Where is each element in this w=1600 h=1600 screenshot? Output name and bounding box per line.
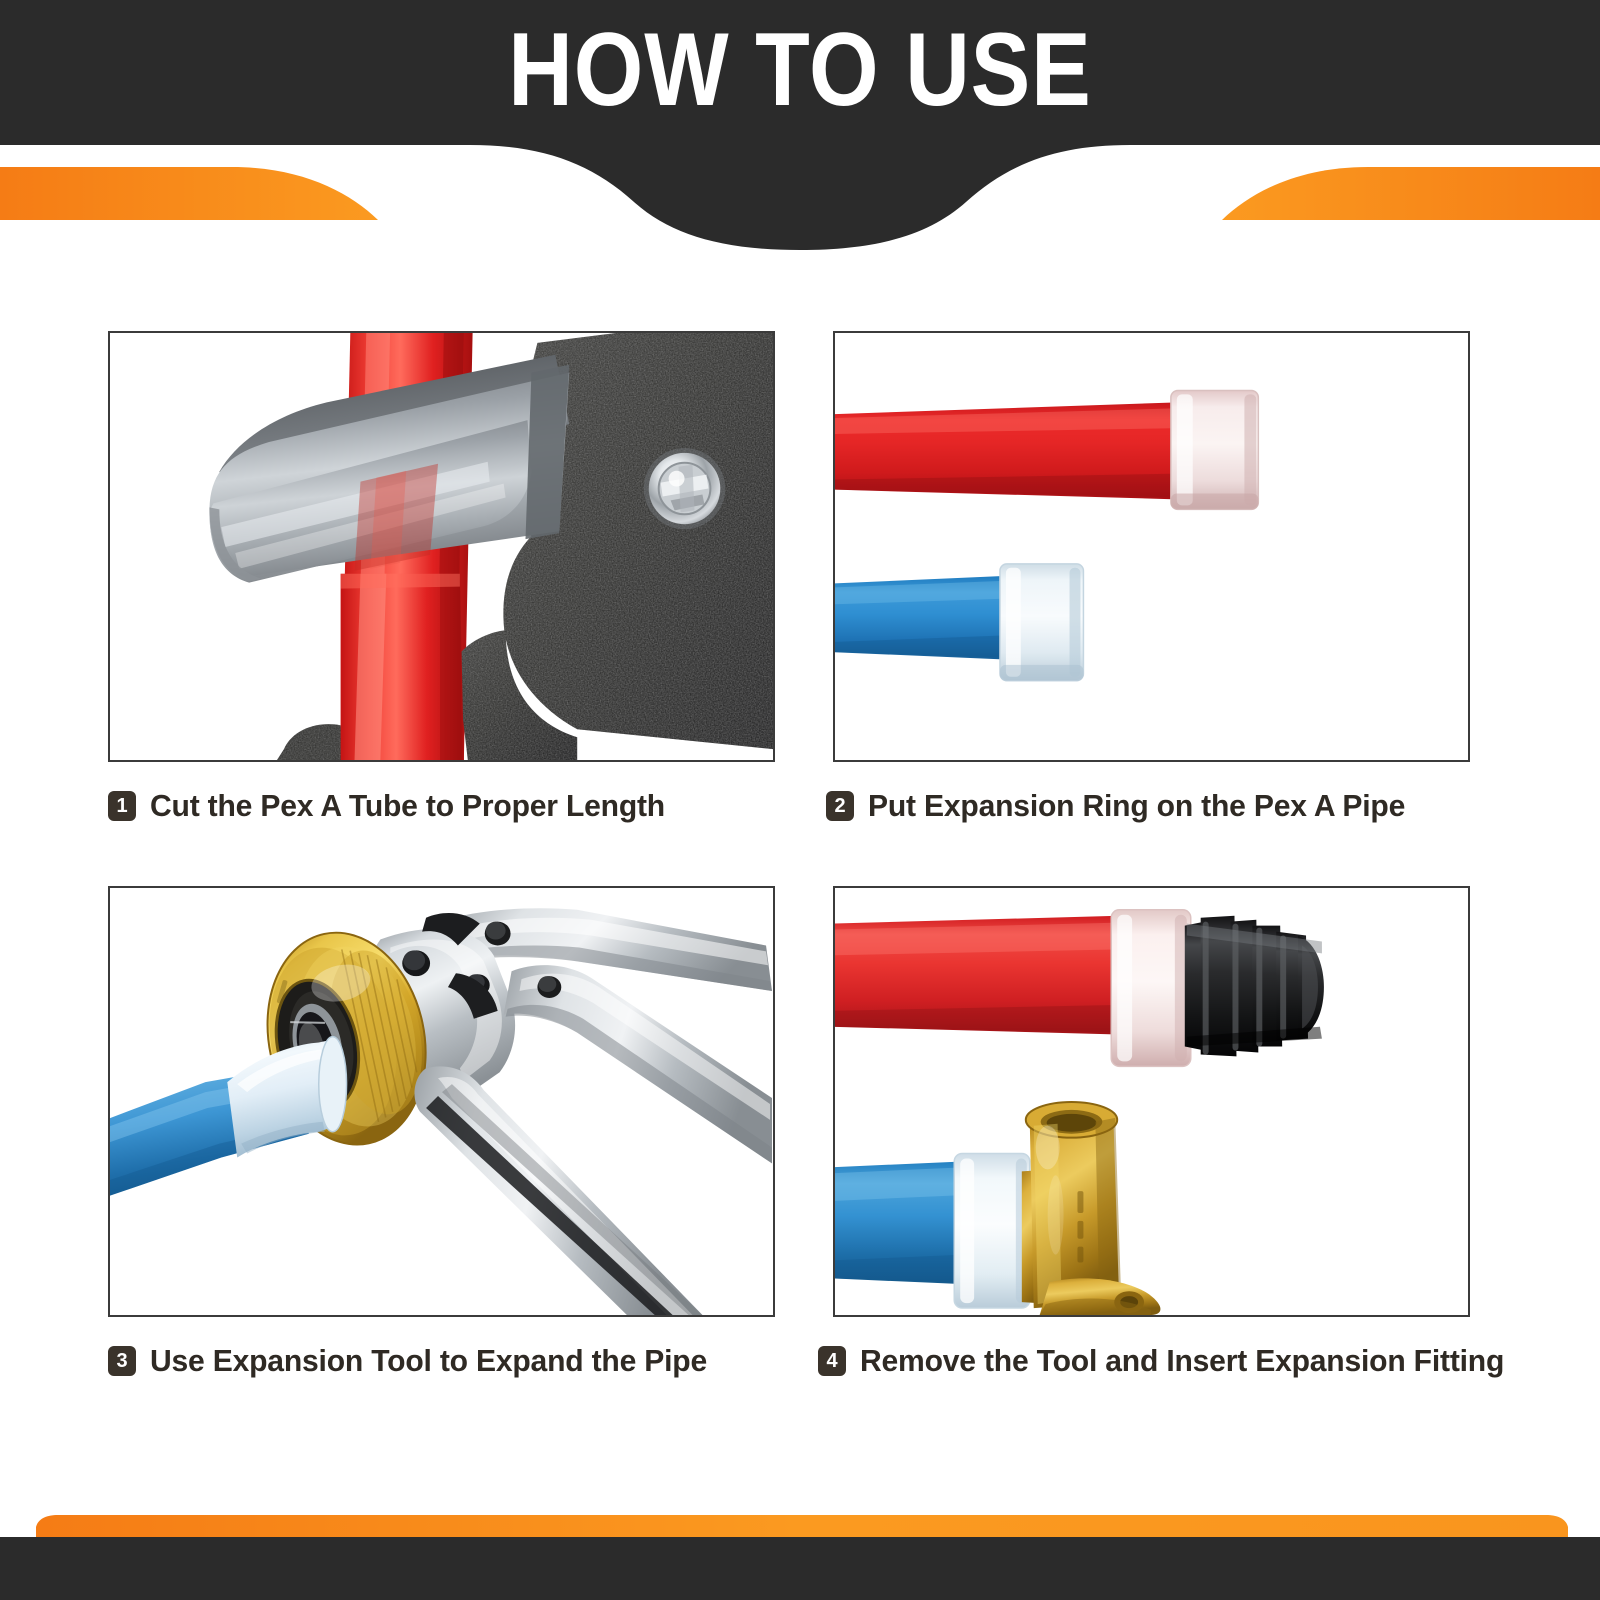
step-1-panel: [108, 331, 775, 762]
step-2-panel: [833, 331, 1470, 762]
pipe-cutter-illustration: [110, 333, 773, 760]
step-4-photo: [833, 886, 1470, 1317]
page-title: HOW TO USE: [112, 0, 1488, 145]
step-3-photo: [108, 886, 775, 1317]
step-3-panel: [108, 886, 775, 1317]
step-4-panel: [833, 886, 1470, 1317]
page-header: HOW TO USE: [0, 0, 1600, 145]
step-1-photo: [108, 331, 775, 762]
expansion-rings-illustration: [835, 333, 1468, 760]
step-2-photo: [833, 331, 1470, 762]
footer-dark-band: [0, 1537, 1600, 1600]
expansion-fittings-illustration: [835, 888, 1468, 1315]
expansion-tool-illustration: [110, 888, 773, 1315]
steps-grid: [0, 0, 1600, 1600]
